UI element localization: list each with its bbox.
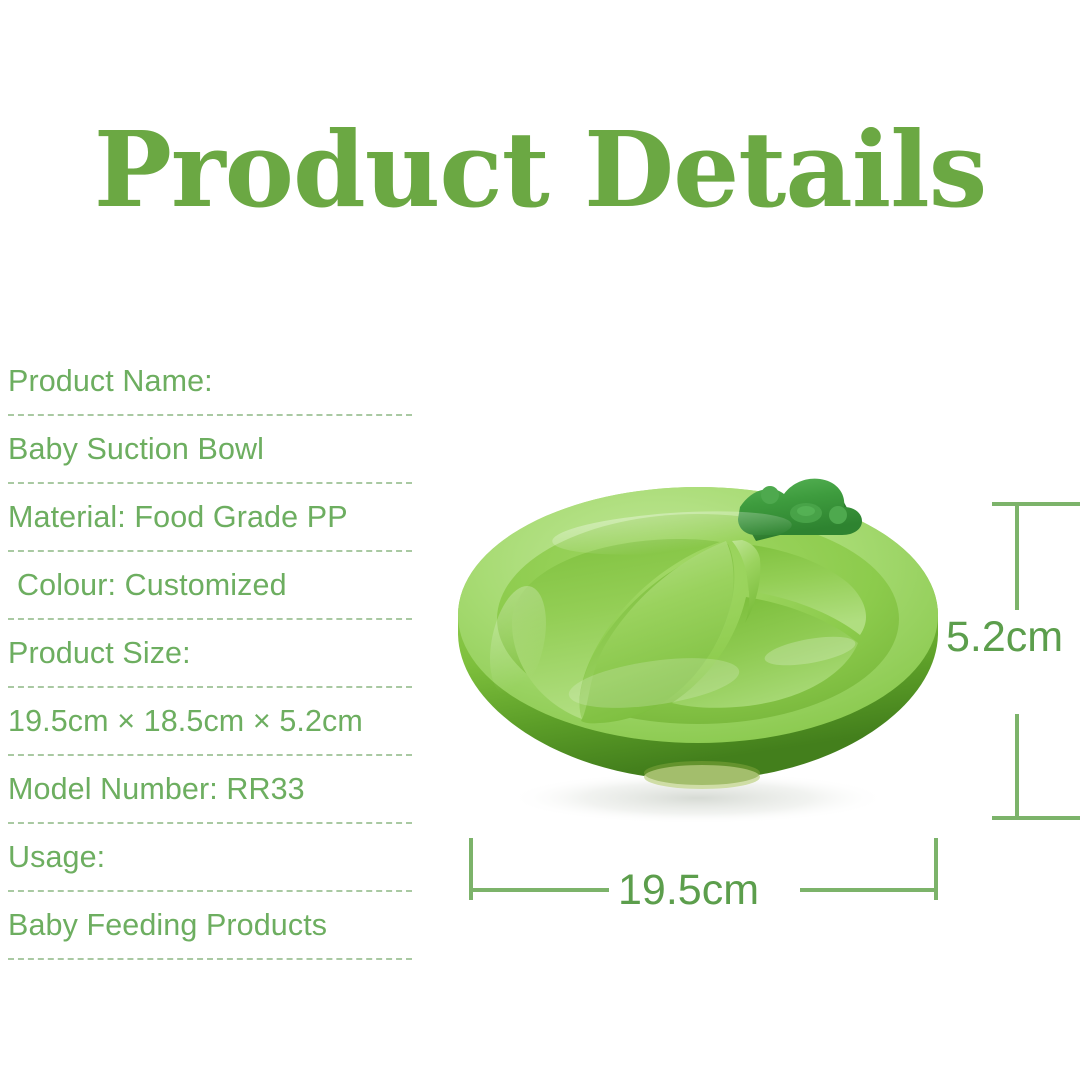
spec-row-material: Material: Food Grade PP <box>8 484 412 552</box>
spec-label: Usage: <box>8 840 105 875</box>
spec-row-usage-value: Baby Feeding Products <box>8 892 412 960</box>
product-image <box>440 455 950 855</box>
spec-row-product-size-label: Product Size: <box>8 620 412 688</box>
specification-list: Product Name: Baby Suction Bowl Material… <box>8 348 412 960</box>
height-dimension-bottom-tick <box>992 816 1080 820</box>
width-dimension-right-bar <box>800 888 938 892</box>
spec-row-product-size-value: 19.5cm × 18.5cm × 5.2cm <box>8 688 412 756</box>
width-dimension-label: 19.5cm <box>618 866 759 915</box>
height-dimension-label: 5.2cm <box>946 613 1063 662</box>
suction-base-shade <box>644 761 760 785</box>
spec-row-model-number: Model Number: RR33 <box>8 756 412 824</box>
product-details-page: Product Details Product Name: Baby Sucti… <box>0 0 1080 1080</box>
spec-row-product-name-value: Baby Suction Bowl <box>8 416 412 484</box>
spec-row-product-name-label: Product Name: <box>8 348 412 416</box>
page-title: Product Details <box>0 118 1080 222</box>
height-dimension-upper-stem <box>1015 502 1019 610</box>
spec-label: Product Size: <box>8 636 191 671</box>
width-dimension-right-cap <box>934 838 938 900</box>
spec-row-colour: Colour: Customized <box>8 552 412 620</box>
height-dimension-top-tick <box>992 502 1080 506</box>
spec-label: Colour: Customized <box>8 568 287 603</box>
spec-row-usage-label: Usage: <box>8 824 412 892</box>
width-dimension-left-bar <box>469 888 609 892</box>
spec-label: Model Number: RR33 <box>8 772 305 807</box>
spec-label: Material: Food Grade PP <box>8 500 348 535</box>
spec-label: 19.5cm × 18.5cm × 5.2cm <box>8 704 363 739</box>
height-dimension-lower-stem <box>1015 714 1019 820</box>
spec-label: Baby Feeding Products <box>8 908 327 943</box>
spec-label: Baby Suction Bowl <box>8 432 264 467</box>
spec-label: Product Name: <box>8 364 213 399</box>
